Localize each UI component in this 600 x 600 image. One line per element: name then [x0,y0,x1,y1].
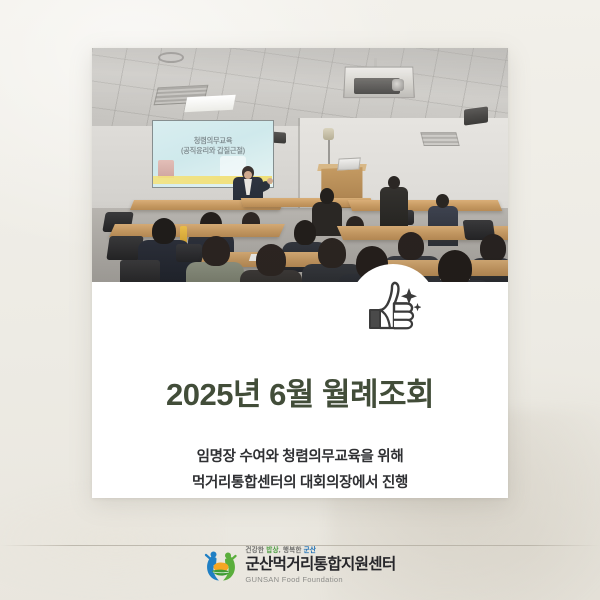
photo-microphone [323,128,334,140]
page-background: 청렴의무교육 (공직윤리와 갑질근절) [0,0,600,600]
photo-attendee-head [202,236,230,266]
photo-attendee-head [398,232,424,260]
photo-attendee-head [318,238,346,268]
gunsan-food-foundation-logo-icon [204,547,238,583]
footer-tagline-blue: 군산 [304,547,317,554]
photo-attendee-head [294,220,316,245]
footer-logo-text: 건강한 밥상, 행복한 군산 군산먹거리통합지원센터 GUNSAN Food F… [245,546,395,585]
photo-attendee-body [312,202,342,236]
thumbs-up-badge [349,264,437,352]
meeting-photo: 청렴의무교육 (공직윤리와 갑질근절) [92,48,508,282]
page-subtitle-line1: 임명장 수여와 청렴의무교육을 위해 [92,444,508,470]
footer-org-name: 군산먹거리통합지원센터 [245,556,395,573]
footer-tagline: 건강한 밥상, 행복한 군산 [245,546,395,555]
photo-attendee-head [320,188,334,204]
photo-attendee-head [388,176,400,189]
footer-logo: 건강한 밥상, 행복한 군산 군산먹거리통합지원센터 GUNSAN Food F… [0,540,600,590]
photo-ceiling-vent [420,132,459,146]
photo-chair [120,260,160,282]
photo-presenter-hand [267,178,273,184]
photo-slide-text-line1: 청렴의무교육 [152,136,274,146]
content-card: 청렴의무교육 (공직윤리와 갑질근절) [92,48,508,498]
photo-attendee-head [436,194,449,208]
photo-attendee-head [438,250,472,282]
photo-laptop [337,157,361,170]
photo-attendee-body [380,187,408,227]
footer-tagline-part1: 건강한 [245,547,266,554]
photo-ceiling-light [135,63,182,86]
photo-attendee-head [152,218,176,244]
photo-attendee-head [480,234,506,262]
photo-ceiling-light [426,52,483,74]
thumbs-up-icon [367,280,421,336]
page-title: 2025년 6월 월례조회 [92,375,508,415]
photo-projector-lens [392,79,404,91]
photo-wall-speaker [464,106,488,125]
photo-attendee-head [256,244,286,276]
page-subtitle-line2: 먹거리통합센터의 대회의장에서 진행 [92,470,508,496]
photo-ceiling-light [184,95,236,112]
photo-ceiling-diffuser [158,52,184,63]
footer-tagline-part2: , 행복한 [279,547,304,554]
photo-slide-text: 청렴의무교육 (공직윤리와 갑질근절) [152,136,274,156]
footer-tagline-green: 밥상 [266,547,279,554]
page-subtitle: 임명장 수여와 청렴의무교육을 위해 먹거리통합센터의 대회의장에서 진행 [92,444,508,496]
photo-desk [348,200,502,211]
photo-presenter-face [244,171,252,179]
photo-chair [176,244,202,262]
footer-org-name-english: GUNSAN Food Foundation [245,574,395,585]
photo-slide-text-line2: (공직윤리와 갑질근절) [152,146,274,156]
